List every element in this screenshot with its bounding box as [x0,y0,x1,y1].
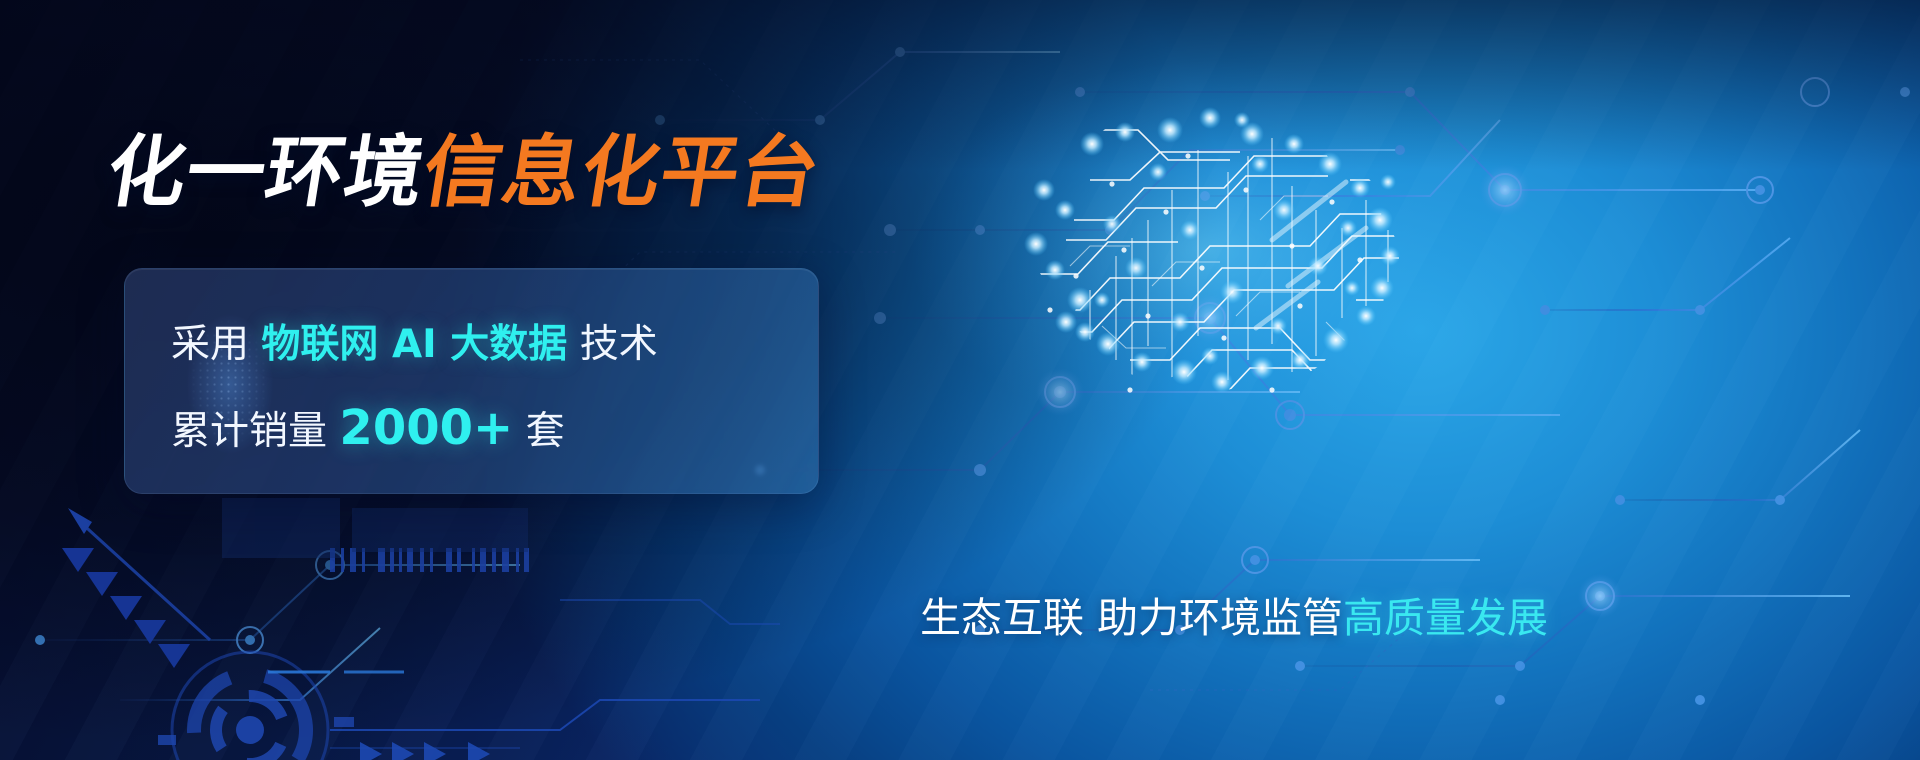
tagline: 生态互联 助力环境监管高质量发展 [920,584,1548,644]
line1-suffix: 技术 [580,322,658,367]
radar-dial-decoration [158,651,354,760]
chevron-row-decoration [360,742,490,760]
sales-count: 2000+ [339,400,513,456]
line1-highlight: 物联网 AI 大数据 [261,322,567,367]
panel-block-decoration [222,498,528,558]
line1-prefix: 采用 [171,322,249,367]
feature-card: 采用 物联网 AI 大数据 技术 累计销量 2000+ 套 [124,268,819,494]
title-orange-part: 信息化平台 [417,128,826,218]
hero-banner: 化一环境信息化平台 采用 物联网 AI 大数据 技术 累计销量 2000+ 套 … [0,0,1920,760]
feature-line-sales: 累计销量 2000+ 套 [171,400,565,456]
arrow-decoration [62,508,210,668]
hud-bracket-decoration [268,600,780,748]
tagline-plain-part: 生态互联 助力环境监管 [920,594,1343,642]
barcode-ticks-decoration [330,548,529,572]
tagline-highlight-part: 高质量发展 [1343,594,1548,642]
page-title: 化一环境信息化平台 [102,134,825,212]
line2-suffix: 套 [526,409,565,454]
line2-prefix: 累计销量 [171,409,327,454]
feature-line-technology: 采用 物联网 AI 大数据 技术 [171,313,658,369]
title-white-part: 化一环境 [101,128,431,218]
ai-circuit-brain-graphic [880,60,1580,530]
